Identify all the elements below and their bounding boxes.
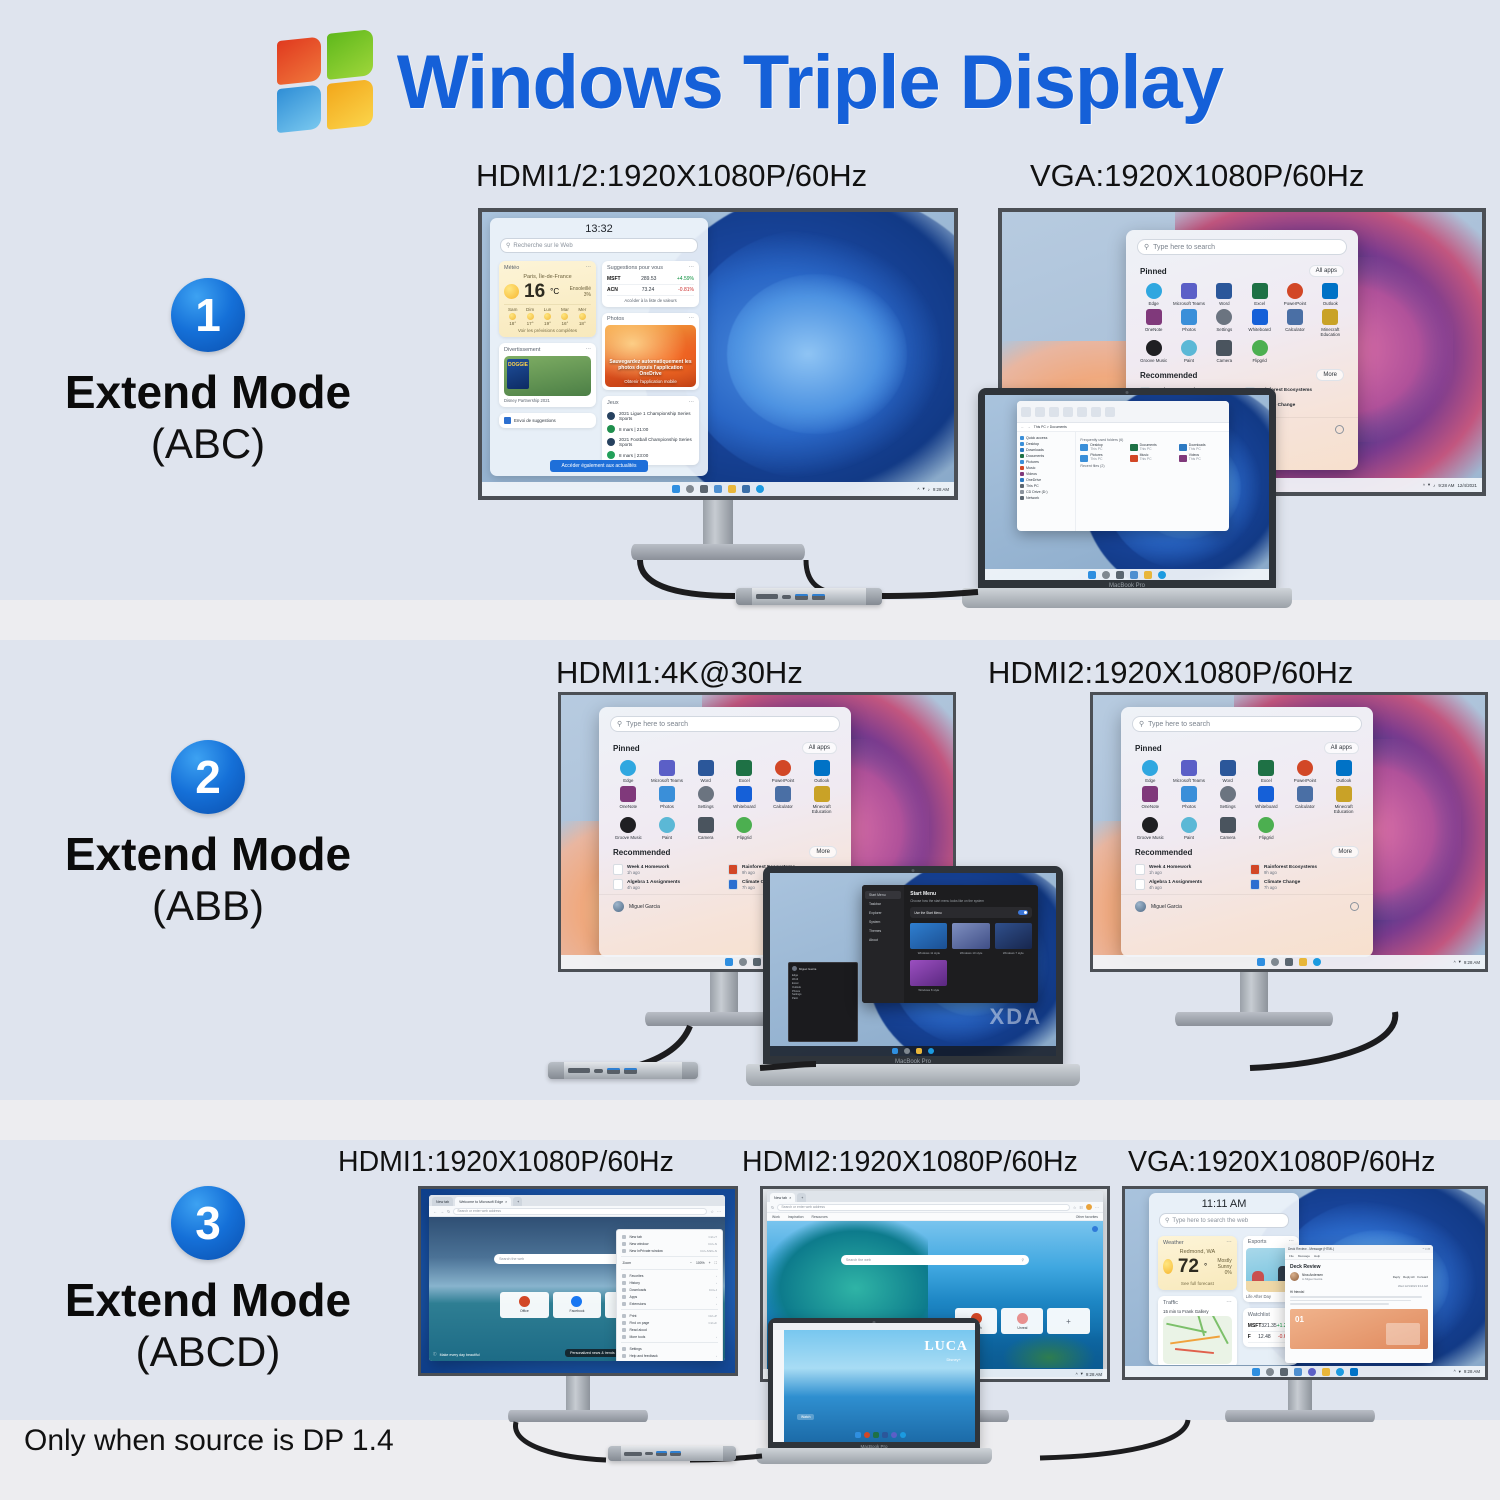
onenote-icon[interactable] xyxy=(620,786,636,802)
photo-thumbnail[interactable]: Sauvegardez automatiquement les photos d… xyxy=(605,325,696,387)
flipgrid-icon[interactable] xyxy=(1252,340,1268,356)
task-view-icon[interactable] xyxy=(753,958,761,966)
groove-music-icon[interactable] xyxy=(620,817,636,833)
powerpoint-icon[interactable] xyxy=(864,1432,870,1438)
all-apps-button[interactable]: All apps xyxy=(1324,742,1359,754)
minecraft-icon[interactable] xyxy=(1322,309,1338,325)
teams-icon[interactable] xyxy=(891,1432,897,1438)
more-button[interactable]: More xyxy=(809,846,837,858)
style-thumbnails: Windows 11 style Windows 10 style Window… xyxy=(910,923,1032,992)
power-icon[interactable] xyxy=(1335,425,1344,434)
ribbon-tab-message[interactable]: Message xyxy=(1298,1254,1310,1258)
refresh-icon[interactable]: ↻ xyxy=(771,1205,774,1210)
excel-icon[interactable] xyxy=(1252,283,1268,299)
outlook-window[interactable]: Deck Review - Message (HTML) − □ × File … xyxy=(1285,1245,1433,1363)
start-icon[interactable] xyxy=(855,1432,861,1438)
excel-icon[interactable] xyxy=(1258,760,1274,776)
volume-icon[interactable]: ♪ xyxy=(928,487,930,492)
sidebar-item-taskbar[interactable]: Taskbar xyxy=(865,900,901,908)
search-icon[interactable] xyxy=(686,485,694,493)
zoom-control[interactable]: Zoom − 100% + ⛶ xyxy=(617,1259,722,1267)
minecraft-icon[interactable] xyxy=(814,786,830,802)
laptop-row-1: ← → This PC > Documents Quick access Des… xyxy=(978,388,1276,590)
app-tile: OneNote xyxy=(1136,309,1171,337)
quick-link-tile[interactable]: Facebook xyxy=(553,1292,602,1318)
calculator-icon[interactable] xyxy=(1287,309,1303,325)
edge-url-input[interactable]: Search or enter web address xyxy=(777,1204,1069,1211)
wifi-icon[interactable]: ▾ xyxy=(922,486,924,492)
widgets-search-placeholder: Recherche sur le Web xyxy=(513,243,572,249)
wifi-icon[interactable]: ▾ xyxy=(1459,959,1461,965)
wifi-icon[interactable]: ▾ xyxy=(1081,1371,1083,1377)
search-icon[interactable] xyxy=(1266,1368,1274,1376)
info-icon[interactable]: ⓘ xyxy=(433,1352,437,1357)
stocks-footer[interactable]: Accéder à la liste de valeurs xyxy=(607,296,694,303)
task-view-icon[interactable] xyxy=(1280,1368,1288,1376)
refresh-icon[interactable]: ↻ xyxy=(447,1209,450,1214)
taskbar-date[interactable]: 12/4/2021 xyxy=(1457,483,1477,488)
start-icon[interactable] xyxy=(892,1048,898,1054)
rename-icon[interactable] xyxy=(1063,407,1073,417)
feedback-label[interactable]: Envoi de suggestions xyxy=(514,418,556,423)
other-favorites[interactable]: Other favorites xyxy=(1076,1215,1098,1219)
excel-icon[interactable] xyxy=(736,760,752,776)
paint-icon[interactable] xyxy=(1181,817,1197,833)
games-widget[interactable]: Jeux⋯ 2021 Ligue 1 Championship Series S… xyxy=(602,396,699,465)
reply-all-button[interactable]: Reply All xyxy=(1403,1275,1414,1279)
bookmark-item[interactable]: Work xyxy=(772,1215,780,1219)
start-icon[interactable] xyxy=(725,958,733,966)
monitor-g-taskbar[interactable]: ^ ▾ 9:28 AM xyxy=(1125,1366,1485,1377)
outlook-icon[interactable] xyxy=(1322,283,1338,299)
sidebar-item-themes[interactable]: Themes xyxy=(865,927,901,935)
paint-icon[interactable] xyxy=(1181,340,1197,356)
edge-tab-active[interactable]: New tab× xyxy=(770,1193,795,1202)
zoom-in-button[interactable]: + xyxy=(709,1261,711,1265)
forward-icon[interactable]: → xyxy=(1027,425,1030,429)
sidebar-item-about[interactable]: About xyxy=(865,936,901,944)
store-icon[interactable] xyxy=(742,485,750,493)
resolution-label-vga: VGA:1920X1080P/60Hz xyxy=(1030,158,1364,194)
system-tray[interactable]: ^ ▾ ♪ 9:28 AM xyxy=(917,486,949,492)
search-icon[interactable] xyxy=(1271,958,1279,966)
edge-icon[interactable] xyxy=(620,760,636,776)
collections-icon[interactable]: ☷ xyxy=(1079,1205,1083,1210)
style-option[interactable]: Windows 7 style xyxy=(995,923,1032,955)
edge-address-bar[interactable]: ↻ Search or enter web address ☆ ☷ ⋯ xyxy=(767,1202,1103,1213)
sports-widget[interactable]: Divertissement⋯ DOGGIE Disney Partnershi… xyxy=(499,343,596,407)
hub-end-cap xyxy=(736,588,752,605)
usb-a-port[interactable] xyxy=(656,1451,667,1456)
stocks-widget[interactable]: Suggestions pour vous⋯ MSFT289.53+4.59% … xyxy=(602,261,699,307)
chevron-up-icon[interactable]: ^ xyxy=(917,487,919,492)
explorer-ribbon[interactable] xyxy=(1017,401,1229,423)
widgets-icon[interactable] xyxy=(1294,1368,1302,1376)
search-icon[interactable] xyxy=(1102,571,1110,579)
start-icon[interactable] xyxy=(1252,1368,1260,1376)
teams-icon[interactable] xyxy=(659,760,675,776)
edge-tab-strip[interactable]: New tab Welcome to Microsoft Edge× + xyxy=(429,1195,725,1206)
chevron-up-icon[interactable]: ^ xyxy=(1454,960,1456,965)
teams-icon[interactable] xyxy=(1308,1368,1316,1376)
widgets-panel-us[interactable]: 11:11 AM ⚲ Type here to search the web W… xyxy=(1149,1193,1299,1365)
powerpoint-icon[interactable] xyxy=(775,760,791,776)
laptop-taskbar[interactable] xyxy=(770,1046,1056,1056)
edge-icon[interactable] xyxy=(1336,1368,1344,1376)
weather-more-link[interactable]: See full forecast xyxy=(1163,1279,1232,1286)
sidebar-item-start-menu[interactable]: Start Menu xyxy=(865,891,901,899)
page-settings-icon[interactable] xyxy=(1092,1226,1098,1232)
camera-icon[interactable] xyxy=(1216,340,1232,356)
edge-tab-active[interactable]: Welcome to Microsoft Edge× xyxy=(455,1197,511,1206)
edge-icon[interactable] xyxy=(1146,283,1162,299)
app-tile: Edge xyxy=(1136,283,1171,306)
forward-button[interactable]: Forward xyxy=(1417,1275,1428,1279)
explorer-nav-pane[interactable]: Quick access Desktop Downloads Documents… xyxy=(1017,432,1076,531)
widgets-panel[interactable]: 13:32 ⚲ Recherche sur le Web Météo⋯ Pari… xyxy=(490,218,708,476)
onenote-icon[interactable] xyxy=(1146,309,1162,325)
power-icon[interactable] xyxy=(1350,902,1359,911)
minecraft-icon[interactable] xyxy=(1336,786,1352,802)
all-apps-button[interactable]: All apps xyxy=(1309,265,1344,277)
widgets-search-input[interactable]: ⚲ Recherche sur le Web xyxy=(500,238,698,253)
edge-icon[interactable] xyxy=(928,1048,934,1054)
breadcrumb[interactable]: This PC > Documents xyxy=(1034,425,1067,429)
edge-icon[interactable] xyxy=(1158,571,1166,579)
sidebar-item-system[interactable]: System xyxy=(865,918,901,926)
personalize-button[interactable]: Personalized news & trends xyxy=(565,1349,620,1357)
onenote-icon[interactable] xyxy=(1142,786,1158,802)
sd-card-slot[interactable] xyxy=(756,594,778,599)
avatar[interactable] xyxy=(613,901,624,912)
start-icon[interactable] xyxy=(1088,571,1096,579)
edge-icon[interactable] xyxy=(756,485,764,493)
feedback-widget[interactable]: Envoi de suggestions xyxy=(499,413,596,428)
start-search-input[interactable]: ⚲ Type here to search xyxy=(1132,716,1362,732)
whiteboard-icon[interactable] xyxy=(1258,786,1274,802)
system-tray[interactable]: ^ ▾ 9:28 AM xyxy=(1076,1371,1102,1377)
window-controls[interactable]: − □ × xyxy=(1423,1247,1430,1251)
explorer-address-bar[interactable]: ← → This PC > Documents xyxy=(1017,423,1229,432)
avatar[interactable] xyxy=(1086,1204,1092,1210)
weather-condition: Mostly Sunny xyxy=(1212,1258,1232,1270)
edge-window-mountain[interactable]: New tab Welcome to Microsoft Edge× + ← →… xyxy=(429,1195,725,1361)
traffic-map[interactable] xyxy=(1163,1316,1232,1364)
outlook-titlebar[interactable]: Deck Review - Message (HTML) − □ × xyxy=(1285,1245,1433,1253)
monitor-a-taskbar[interactable]: ^ ▾ ♪ 9:28 AM xyxy=(482,482,954,496)
edge-icon[interactable] xyxy=(900,1432,906,1438)
paste-icon[interactable] xyxy=(1035,407,1045,417)
weather-widget[interactable]: Weather⋯ Redmond, WA 72 ° Mostly Sunny 0… xyxy=(1158,1236,1237,1290)
settings-menu-icon[interactable]: ⋯ xyxy=(1095,1205,1099,1210)
start-search-input[interactable]: ⚲ Type here to search xyxy=(1137,239,1347,255)
more-icon[interactable]: ⋯ xyxy=(1226,1240,1232,1246)
more-icon[interactable]: ⋯ xyxy=(689,265,695,271)
photos-icon[interactable] xyxy=(1181,309,1197,325)
cut-icon[interactable] xyxy=(1049,407,1059,417)
search-icon[interactable] xyxy=(739,958,747,966)
settings-gear-icon[interactable] xyxy=(1220,786,1236,802)
fullscreen-icon[interactable]: ⛶ xyxy=(715,1261,717,1265)
outlook-icon[interactable] xyxy=(814,760,830,776)
close-icon[interactable]: × xyxy=(789,1196,791,1200)
usb-c-port[interactable] xyxy=(782,595,791,599)
system-tray[interactable]: ^ ▾ 9:28 AM xyxy=(1454,1369,1480,1375)
taskbar-clock[interactable]: 9:28 AM xyxy=(1464,960,1480,965)
wifi-icon[interactable]: ▾ xyxy=(1428,482,1430,488)
volume-icon[interactable]: ♪ xyxy=(1433,483,1435,488)
calculator-icon[interactable] xyxy=(775,786,791,802)
sd-card-slot[interactable] xyxy=(624,1452,642,1456)
file-explorer-icon[interactable] xyxy=(728,485,736,493)
file-explorer-icon[interactable] xyxy=(1144,571,1152,579)
start-search-input[interactable]: ⚲ Type here to search xyxy=(610,716,840,732)
taskbar-clock[interactable]: 9:28 AM xyxy=(1438,483,1454,488)
traffic-widget[interactable]: Traffic⋯ 15 min to Frank Gallery xyxy=(1158,1296,1237,1365)
resolution-label-hdmi12: HDMI1/2:1920X1080P/60Hz xyxy=(476,158,867,194)
groove-music-icon[interactable] xyxy=(1142,817,1158,833)
legacy-start-menu[interactable]: Miguel Garcia Edge Word Excel Outlook Ph… xyxy=(788,962,858,1042)
excel-icon[interactable] xyxy=(873,1432,879,1438)
more-icon[interactable]: ⋯ xyxy=(586,347,592,353)
start-icon[interactable] xyxy=(1257,958,1265,966)
edge-settings-menu[interactable]: New tabCtrl+T New windowCtrl+N New InPri… xyxy=(616,1229,723,1361)
movie-card[interactable]: DOGGIE xyxy=(504,356,591,396)
search-icon: ⚲ xyxy=(1144,243,1149,251)
toggle-switch[interactable] xyxy=(1018,910,1028,915)
usb-a-port[interactable] xyxy=(795,594,808,600)
avatar[interactable] xyxy=(792,966,797,971)
properties-icon[interactable] xyxy=(1105,407,1115,417)
more-button[interactable]: More xyxy=(1331,846,1359,858)
use-start-menu-toggle-row[interactable]: Use the Start Menu xyxy=(910,907,1032,918)
style-option[interactable]: Windows 8 style xyxy=(910,960,947,992)
watch-button[interactable]: Watch xyxy=(797,1414,814,1420)
teams-icon[interactable] xyxy=(1181,283,1197,299)
xda-watermark: XDA xyxy=(990,1004,1042,1030)
recommended-label: Recommended xyxy=(1140,371,1197,380)
avatar[interactable] xyxy=(1290,1272,1299,1281)
bookmark-item[interactable]: Inspiration xyxy=(788,1215,804,1219)
chevron-up-icon[interactable]: ^ xyxy=(1454,1369,1456,1374)
calculator-icon[interactable] xyxy=(1297,786,1313,802)
task-view-icon[interactable] xyxy=(700,485,708,493)
app-tile: Calculator xyxy=(1286,786,1325,814)
start-icon[interactable] xyxy=(672,485,680,493)
quick-link-tile[interactable]: Office xyxy=(500,1292,549,1318)
favorites-icon[interactable]: ☆ xyxy=(710,1209,714,1214)
delete-icon[interactable] xyxy=(1077,407,1087,417)
back-icon[interactable]: ← xyxy=(433,1209,437,1214)
weather-more-link[interactable]: Voir les prévisions complètes xyxy=(504,326,591,333)
taskbar-clock[interactable]: 9:28 AM xyxy=(933,487,949,492)
search-icon[interactable] xyxy=(904,1048,910,1054)
settings-gear-icon[interactable] xyxy=(698,786,714,802)
widgets-icon[interactable] xyxy=(714,485,722,493)
sports-card-title: Divertissement xyxy=(504,347,540,353)
edge-icon[interactable] xyxy=(1142,760,1158,776)
usb-hub-row-3[interactable] xyxy=(608,1446,736,1461)
entertainment-caption: Disney Partnership 2021 xyxy=(504,398,591,403)
app-tile: Outlook xyxy=(1324,760,1363,783)
word-icon[interactable] xyxy=(1216,283,1232,299)
groove-music-icon[interactable] xyxy=(1146,340,1162,356)
powerpoint-file-icon xyxy=(728,879,738,890)
sd-card-slot[interactable] xyxy=(568,1068,590,1073)
powerpoint-icon[interactable] xyxy=(1297,760,1313,776)
traffic-card-title: Traffic xyxy=(1163,1300,1178,1306)
taskbar-clock[interactable]: 9:28 AM xyxy=(1464,1369,1480,1374)
more-icon[interactable]: ⋯ xyxy=(689,400,695,406)
whiteboard-icon[interactable] xyxy=(736,786,752,802)
usb-a-port[interactable] xyxy=(607,1068,620,1074)
paint-icon[interactable] xyxy=(659,817,675,833)
settings-gear-icon[interactable] xyxy=(1216,309,1232,325)
camera-icon[interactable] xyxy=(698,817,714,833)
powerpoint-icon[interactable] xyxy=(1287,283,1303,299)
photos-widget[interactable]: Photos⋯ Sauvegardez automatiquement les … xyxy=(602,313,699,390)
laptop-lid: ← → This PC > Documents Quick access Des… xyxy=(978,388,1276,590)
file-explorer-window[interactable]: ← → This PC > Documents Quick access Des… xyxy=(1017,401,1229,531)
bookmark-item[interactable]: Resources xyxy=(812,1215,828,1219)
usb-c-port[interactable] xyxy=(594,1069,603,1073)
reply-button[interactable]: Reply xyxy=(1393,1275,1400,1279)
chevron-up-icon[interactable]: ^ xyxy=(1076,1372,1078,1377)
add-quick-link-button[interactable]: + xyxy=(1047,1308,1089,1334)
chevron-up-icon[interactable]: ^ xyxy=(1423,483,1425,488)
search-icon[interactable]: ⚲ xyxy=(1021,1258,1024,1262)
start-menu[interactable]: ⚲ Type here to search Pinned All apps Ed… xyxy=(1121,707,1373,957)
taskbar-clock[interactable]: 9:28 AM xyxy=(1086,1372,1102,1377)
file-explorer-icon[interactable] xyxy=(916,1048,922,1054)
monitor-c-neck xyxy=(710,972,738,1012)
start-menu-settings-app[interactable]: Start Menu Taskbar Explorer System Theme… xyxy=(862,885,1038,1003)
file-explorer-icon[interactable] xyxy=(1299,958,1307,966)
usb-hub-row-2[interactable] xyxy=(548,1062,698,1079)
app-tile: Microsoft Teams xyxy=(1171,283,1206,306)
usb-a-port[interactable] xyxy=(670,1451,681,1456)
app-tile: Photos xyxy=(1171,309,1206,337)
folders-group-label: Frequently used folders (6) xyxy=(1080,438,1225,442)
widgets-action-button[interactable]: Accéder également aux actualités xyxy=(550,460,648,472)
camera-icon[interactable] xyxy=(1220,817,1236,833)
close-icon[interactable]: × xyxy=(505,1200,507,1204)
more-icon[interactable]: ⋯ xyxy=(1226,1300,1232,1306)
file-explorer-icon[interactable] xyxy=(1322,1368,1330,1376)
quick-link-tile[interactable]: Unreal xyxy=(1001,1308,1043,1334)
monitor-d-taskbar[interactable]: ^ ▾ 9:28 AM xyxy=(1093,955,1485,969)
dock[interactable] xyxy=(787,1430,973,1440)
widgets-search-input[interactable]: ⚲ Type here to search the web xyxy=(1159,1213,1289,1228)
edge-icon[interactable] xyxy=(1313,958,1321,966)
monitor-a-neck xyxy=(703,500,733,544)
more-button[interactable]: More xyxy=(1316,369,1344,381)
system-tray[interactable]: ^ ▾ 9:28 AM xyxy=(1454,959,1480,965)
new-tab-button[interactable]: + xyxy=(513,1197,522,1206)
forward-icon[interactable]: → xyxy=(440,1209,444,1214)
wifi-icon[interactable]: ▾ xyxy=(1459,1369,1461,1375)
office-icon xyxy=(519,1296,530,1307)
new-tab-button[interactable]: + xyxy=(797,1193,806,1202)
ribbon-tab-file[interactable]: File xyxy=(1289,1254,1294,1258)
copy-icon[interactable] xyxy=(1021,407,1031,417)
word-icon[interactable] xyxy=(1220,760,1236,776)
widgets-icon[interactable] xyxy=(1130,571,1138,579)
weather-card-title: Weather xyxy=(1163,1240,1184,1246)
start-user-row[interactable]: Miguel Garcia xyxy=(1121,894,1373,921)
bookmarks-bar[interactable]: Work Inspiration Resources Other favorit… xyxy=(767,1213,1103,1221)
app-tile: Minecraft Education xyxy=(1313,309,1348,337)
ntp-search-input[interactable]: Search the web ⚲ xyxy=(841,1255,1029,1265)
app-tile: Whiteboard xyxy=(725,786,764,814)
edge-tab[interactable]: New tab xyxy=(432,1197,453,1206)
style-option[interactable]: Windows 11 style xyxy=(910,923,947,955)
ribbon-tab-help[interactable]: Help xyxy=(1314,1254,1320,1258)
favorites-icon[interactable]: ☆ xyxy=(1073,1205,1077,1210)
app-sidebar[interactable]: Start Menu Taskbar Explorer System Theme… xyxy=(862,885,904,1003)
task-view-icon[interactable] xyxy=(1116,571,1124,579)
usb-c-port[interactable] xyxy=(645,1452,653,1456)
outlook-ribbon[interactable]: File Message Help xyxy=(1285,1253,1433,1260)
laptop-taskbar[interactable] xyxy=(985,569,1269,580)
sun-icon xyxy=(504,284,519,299)
monitor-g-neck xyxy=(1288,1380,1312,1410)
flipgrid-icon[interactable] xyxy=(736,817,752,833)
usb-a-port[interactable] xyxy=(812,594,825,600)
app-content: Start Menu Choose how the start menu loo… xyxy=(904,885,1038,1003)
whiteboard-icon[interactable] xyxy=(1252,309,1268,325)
weather-widget[interactable]: Météo⋯ Paris, Île-de-France 16 °C Ensole… xyxy=(499,261,596,337)
photos-icon[interactable] xyxy=(659,786,675,802)
avatar[interactable] xyxy=(1135,901,1146,912)
word-icon[interactable] xyxy=(882,1432,888,1438)
teams-icon[interactable] xyxy=(1181,760,1197,776)
usb-hub-row-1[interactable] xyxy=(736,588,882,605)
more-icon[interactable]: ⋯ xyxy=(586,265,592,271)
widgets-clock: 11:11 AM xyxy=(1149,1193,1299,1213)
style-option[interactable]: Windows 10 style xyxy=(952,923,989,955)
recommended-item: Week 4 Homework1h ago xyxy=(613,864,722,875)
back-icon[interactable]: ← xyxy=(1021,425,1024,429)
forecast-day: Mar xyxy=(561,307,569,312)
usb-a-port[interactable] xyxy=(624,1068,637,1074)
email-attachment-slide[interactable]: 01 xyxy=(1290,1309,1428,1349)
start-search-placeholder: Type here to search xyxy=(626,721,688,728)
photos-icon[interactable] xyxy=(1181,786,1197,802)
edge-tab-strip[interactable]: New tab× + xyxy=(767,1191,1103,1202)
all-apps-button[interactable]: All apps xyxy=(802,742,837,754)
task-view-icon[interactable] xyxy=(1285,958,1293,966)
zoom-out-button[interactable]: − xyxy=(690,1261,692,1265)
edge-url-input[interactable]: Search or enter web address xyxy=(453,1208,707,1215)
flipgrid-icon[interactable] xyxy=(1258,817,1274,833)
sidebar[interactable] xyxy=(773,1323,784,1442)
settings-menu-icon[interactable]: ⋯ xyxy=(717,1209,721,1214)
outlook-icon[interactable] xyxy=(1336,760,1352,776)
more-icon[interactable]: ⋯ xyxy=(689,316,695,322)
sidebar-item-explorer[interactable]: Explorer xyxy=(865,909,901,917)
legacy-item[interactable]: Paint xyxy=(792,997,854,1001)
forecast-high: 18° xyxy=(509,321,516,326)
system-tray[interactable]: ^ ▾ ♪ 9:28 AM 12/4/2021 xyxy=(1423,482,1477,488)
hub-end-cap xyxy=(682,1062,698,1079)
edge-address-bar[interactable]: ← → ↻ Search or enter web address ☆ ⋯ xyxy=(429,1206,725,1217)
outlook-icon[interactable] xyxy=(1350,1368,1358,1376)
browser-chrome[interactable] xyxy=(773,1323,975,1330)
word-icon[interactable] xyxy=(698,760,714,776)
new-folder-icon[interactable] xyxy=(1091,407,1101,417)
laptop-row-3: LUCA Disney+ Watch MacBook Pro xyxy=(768,1318,980,1450)
